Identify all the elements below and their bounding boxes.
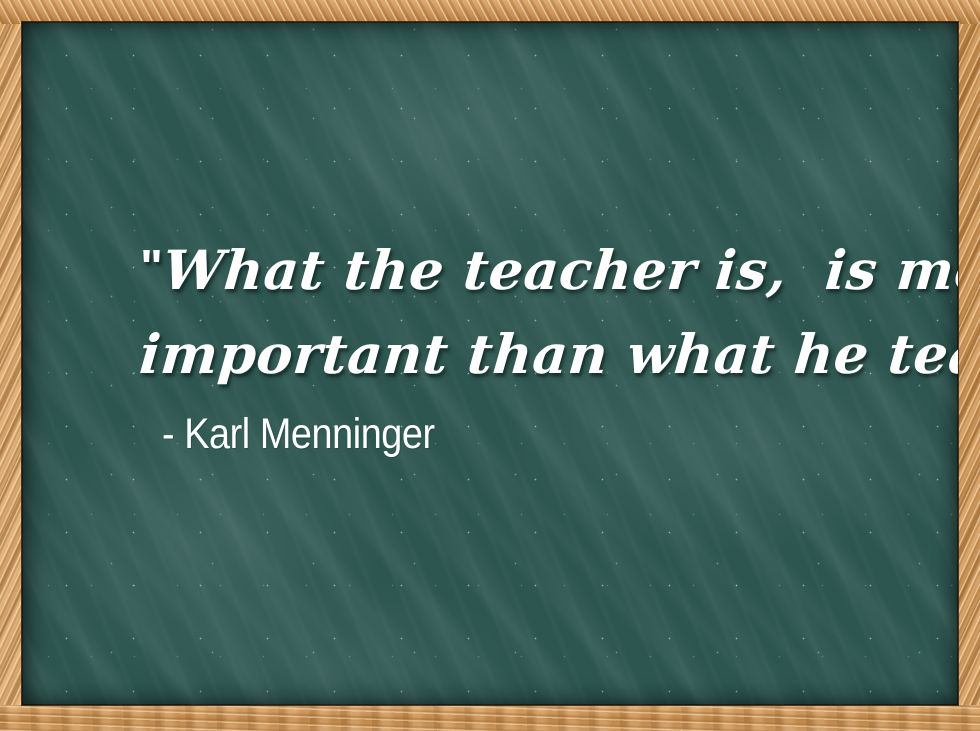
chalkboard-quote-image: "What the teacher is, is more important … — [0, 0, 980, 731]
quote-text-block: "What the teacher is, is more important … — [140, 227, 920, 395]
quote-line-2-text: important than what he teaches. — [137, 322, 958, 386]
quote-line-1: "What the teacher is, is more — [136, 227, 923, 311]
quote-line-2: important than what he teaches." — [136, 311, 923, 395]
quote-line-1-text: What the teacher is, is more — [160, 238, 958, 302]
opening-quote-mark: " — [140, 227, 163, 309]
wood-frame-top-rail — [0, 0, 980, 24]
wood-frame-bottom-rail — [0, 705, 980, 731]
chalkboard-surface: "What the teacher is, is more important … — [22, 22, 958, 705]
quote-attribution: - Karl Menninger — [162, 409, 435, 459]
